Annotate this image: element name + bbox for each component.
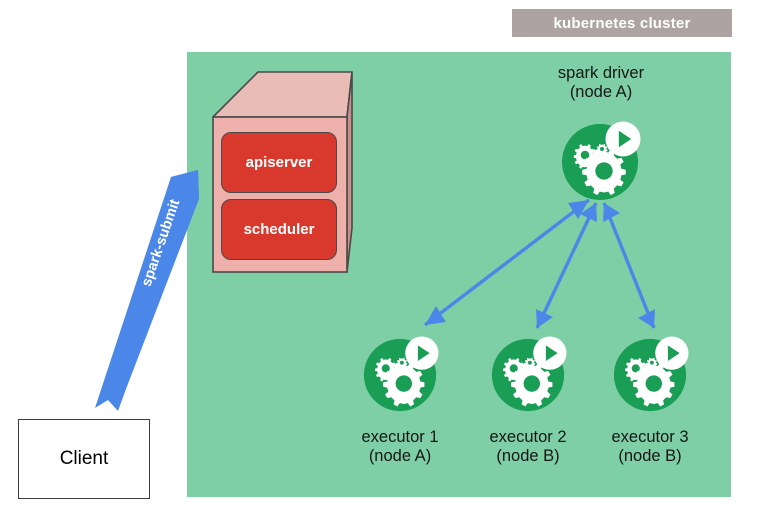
- connector-driver-executor-3: [603, 203, 655, 328]
- executor-1-label: executor 1 (node A): [330, 428, 470, 466]
- executor-3-label-line2: (node B): [580, 447, 720, 466]
- spark-driver-icon: [562, 122, 641, 201]
- executor-1-label-line1: executor 1: [330, 428, 470, 447]
- executor-1-icon: [364, 337, 439, 412]
- connector-driver-executor-1: [425, 200, 589, 325]
- scheduler-label: scheduler: [244, 221, 315, 238]
- spark-driver-label-line2: (node A): [521, 83, 681, 102]
- executor-2-icon: [492, 337, 567, 412]
- client-label: Client: [60, 448, 109, 470]
- diagram-canvas: kubernetes cluster: [0, 0, 761, 516]
- executor-3-label-line1: executor 3: [580, 428, 720, 447]
- executor-2-label-line1: executor 2: [458, 428, 598, 447]
- executor-1-label-line2: (node A): [330, 447, 470, 466]
- apiserver-label: apiserver: [246, 154, 313, 171]
- executor-2-label: executor 2 (node B): [458, 428, 598, 466]
- executor-3-label: executor 3 (node B): [580, 428, 720, 466]
- connector-driver-executor-2: [536, 203, 597, 328]
- spark-driver-label: spark driver (node A): [521, 64, 681, 102]
- spark-driver-label-line1: spark driver: [521, 64, 681, 83]
- executor-3-icon: [614, 337, 689, 412]
- apiserver-box: apiserver: [221, 132, 337, 193]
- scheduler-box: scheduler: [221, 199, 337, 260]
- spark-submit-arrow: [95, 170, 199, 411]
- client-box: Client: [18, 419, 150, 499]
- executor-2-label-line2: (node B): [458, 447, 598, 466]
